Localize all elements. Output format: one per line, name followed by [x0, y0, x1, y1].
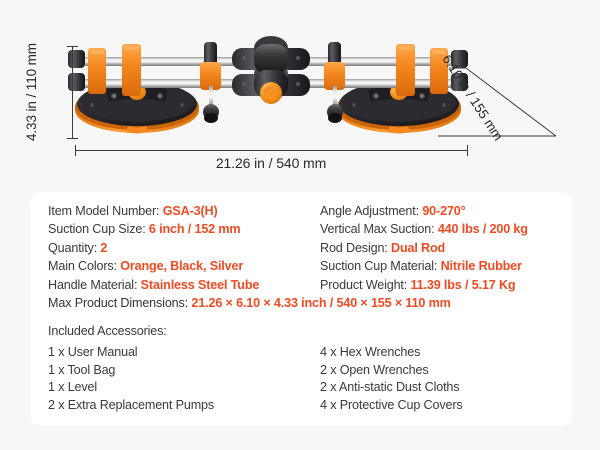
spec-label: Max Product Dimensions: — [48, 296, 188, 310]
spec-label: Suction Cup Size: — [48, 222, 146, 236]
list-item: 1 x Tool Bag — [48, 362, 320, 379]
list-item: 1 x Level — [48, 379, 320, 396]
spec-label: Vertical Max Suction: — [320, 222, 434, 236]
spec-label: Angle Adjustment: — [320, 204, 419, 218]
spec-vertical-max-suction: Vertical Max Suction: 440 lbs / 200 kg — [320, 220, 562, 238]
height-dimension-label: 4.33 in / 110 mm — [24, 45, 39, 141]
spec-item-model-number: Item Model Number: GSA-3(H) — [48, 202, 320, 220]
spec-value: 21.26 × 6.10 × 4.33 inch / 540 × 155 × 1… — [191, 296, 450, 310]
product-image-area: 4.33 in / 110 mm 21.26 in / 540 mm 6.10 … — [0, 0, 600, 190]
left-end-caps — [68, 50, 85, 91]
spec-main-colors: Main Colors: Orange, Black, Silver — [48, 257, 320, 275]
specs-grid: Item Model Number: GSA-3(H) Angle Adjust… — [48, 202, 562, 294]
spec-product-weight: Product Weight: 11.39 lbs / 5.17 Kg — [320, 276, 562, 294]
spec-suction-cup-material: Suction Cup Material: Nitrile Rubber — [320, 257, 562, 275]
spec-angle-adjustment: Angle Adjustment: 90-270° — [320, 202, 562, 220]
spec-value: Orange, Black, Silver — [120, 259, 243, 273]
spec-value: Nitrile Rubber — [441, 259, 522, 273]
spec-value: Stainless Steel Tube — [141, 278, 260, 292]
spec-quantity: Quantity: 2 — [48, 239, 320, 257]
spec-value: 6 inch / 152 mm — [149, 222, 241, 236]
width-dimension-line — [75, 150, 467, 151]
spec-value: 90-270° — [422, 204, 465, 218]
list-item: 2 x Extra Replacement Pumps — [48, 397, 320, 414]
width-dimension-label: 21.26 in / 540 mm — [75, 155, 467, 171]
list-item: 2 x Open Wrenches — [320, 362, 562, 379]
spec-label: Quantity: — [48, 241, 97, 255]
spec-suction-cup-size: Suction Cup Size: 6 inch / 152 mm — [48, 220, 320, 238]
right-support-foot — [324, 42, 345, 123]
spec-label: Main Colors: — [48, 259, 117, 273]
spec-value: 2 — [100, 241, 107, 255]
height-dimension-cap-bottom — [67, 138, 78, 139]
spec-label: Rod Design: — [320, 241, 388, 255]
spec-value: 440 lbs / 200 kg — [438, 222, 528, 236]
list-item: 4 x Protective Cup Covers — [320, 397, 562, 414]
spec-value: Dual Rod — [391, 241, 445, 255]
spec-value: GSA-3(H) — [163, 204, 218, 218]
spec-value: 11.39 lbs / 5.17 Kg — [410, 278, 515, 292]
height-dimension-line — [72, 46, 73, 138]
spec-label: Handle Material: — [48, 278, 137, 292]
spec-label: Suction Cup Material: — [320, 259, 437, 273]
spec-label: Product Weight: — [320, 278, 407, 292]
left-support-foot — [200, 42, 221, 123]
list-item: 2 x Anti-static Dust Cloths — [320, 379, 562, 396]
accessories-grid: 1 x User Manual 4 x Hex Wrenches 1 x Too… — [48, 344, 562, 414]
specifications-panel: Item Model Number: GSA-3(H) Angle Adjust… — [30, 192, 572, 426]
spec-rod-design: Rod Design: Dual Rod — [320, 239, 562, 257]
height-dimension-cap-top — [67, 46, 78, 47]
list-item: 1 x User Manual — [48, 344, 320, 361]
spec-handle-material: Handle Material: Stainless Steel Tube — [48, 276, 320, 294]
depth-dimension-lines — [440, 50, 600, 160]
spec-label: Item Model Number: — [48, 204, 159, 218]
spec-max-product-dimensions: Max Product Dimensions: 21.26 × 6.10 × 4… — [48, 294, 562, 312]
accessories-heading: Included Accessories: — [48, 322, 562, 340]
list-item: 4 x Hex Wrenches — [320, 344, 562, 361]
central-pivot-hub — [232, 36, 310, 104]
